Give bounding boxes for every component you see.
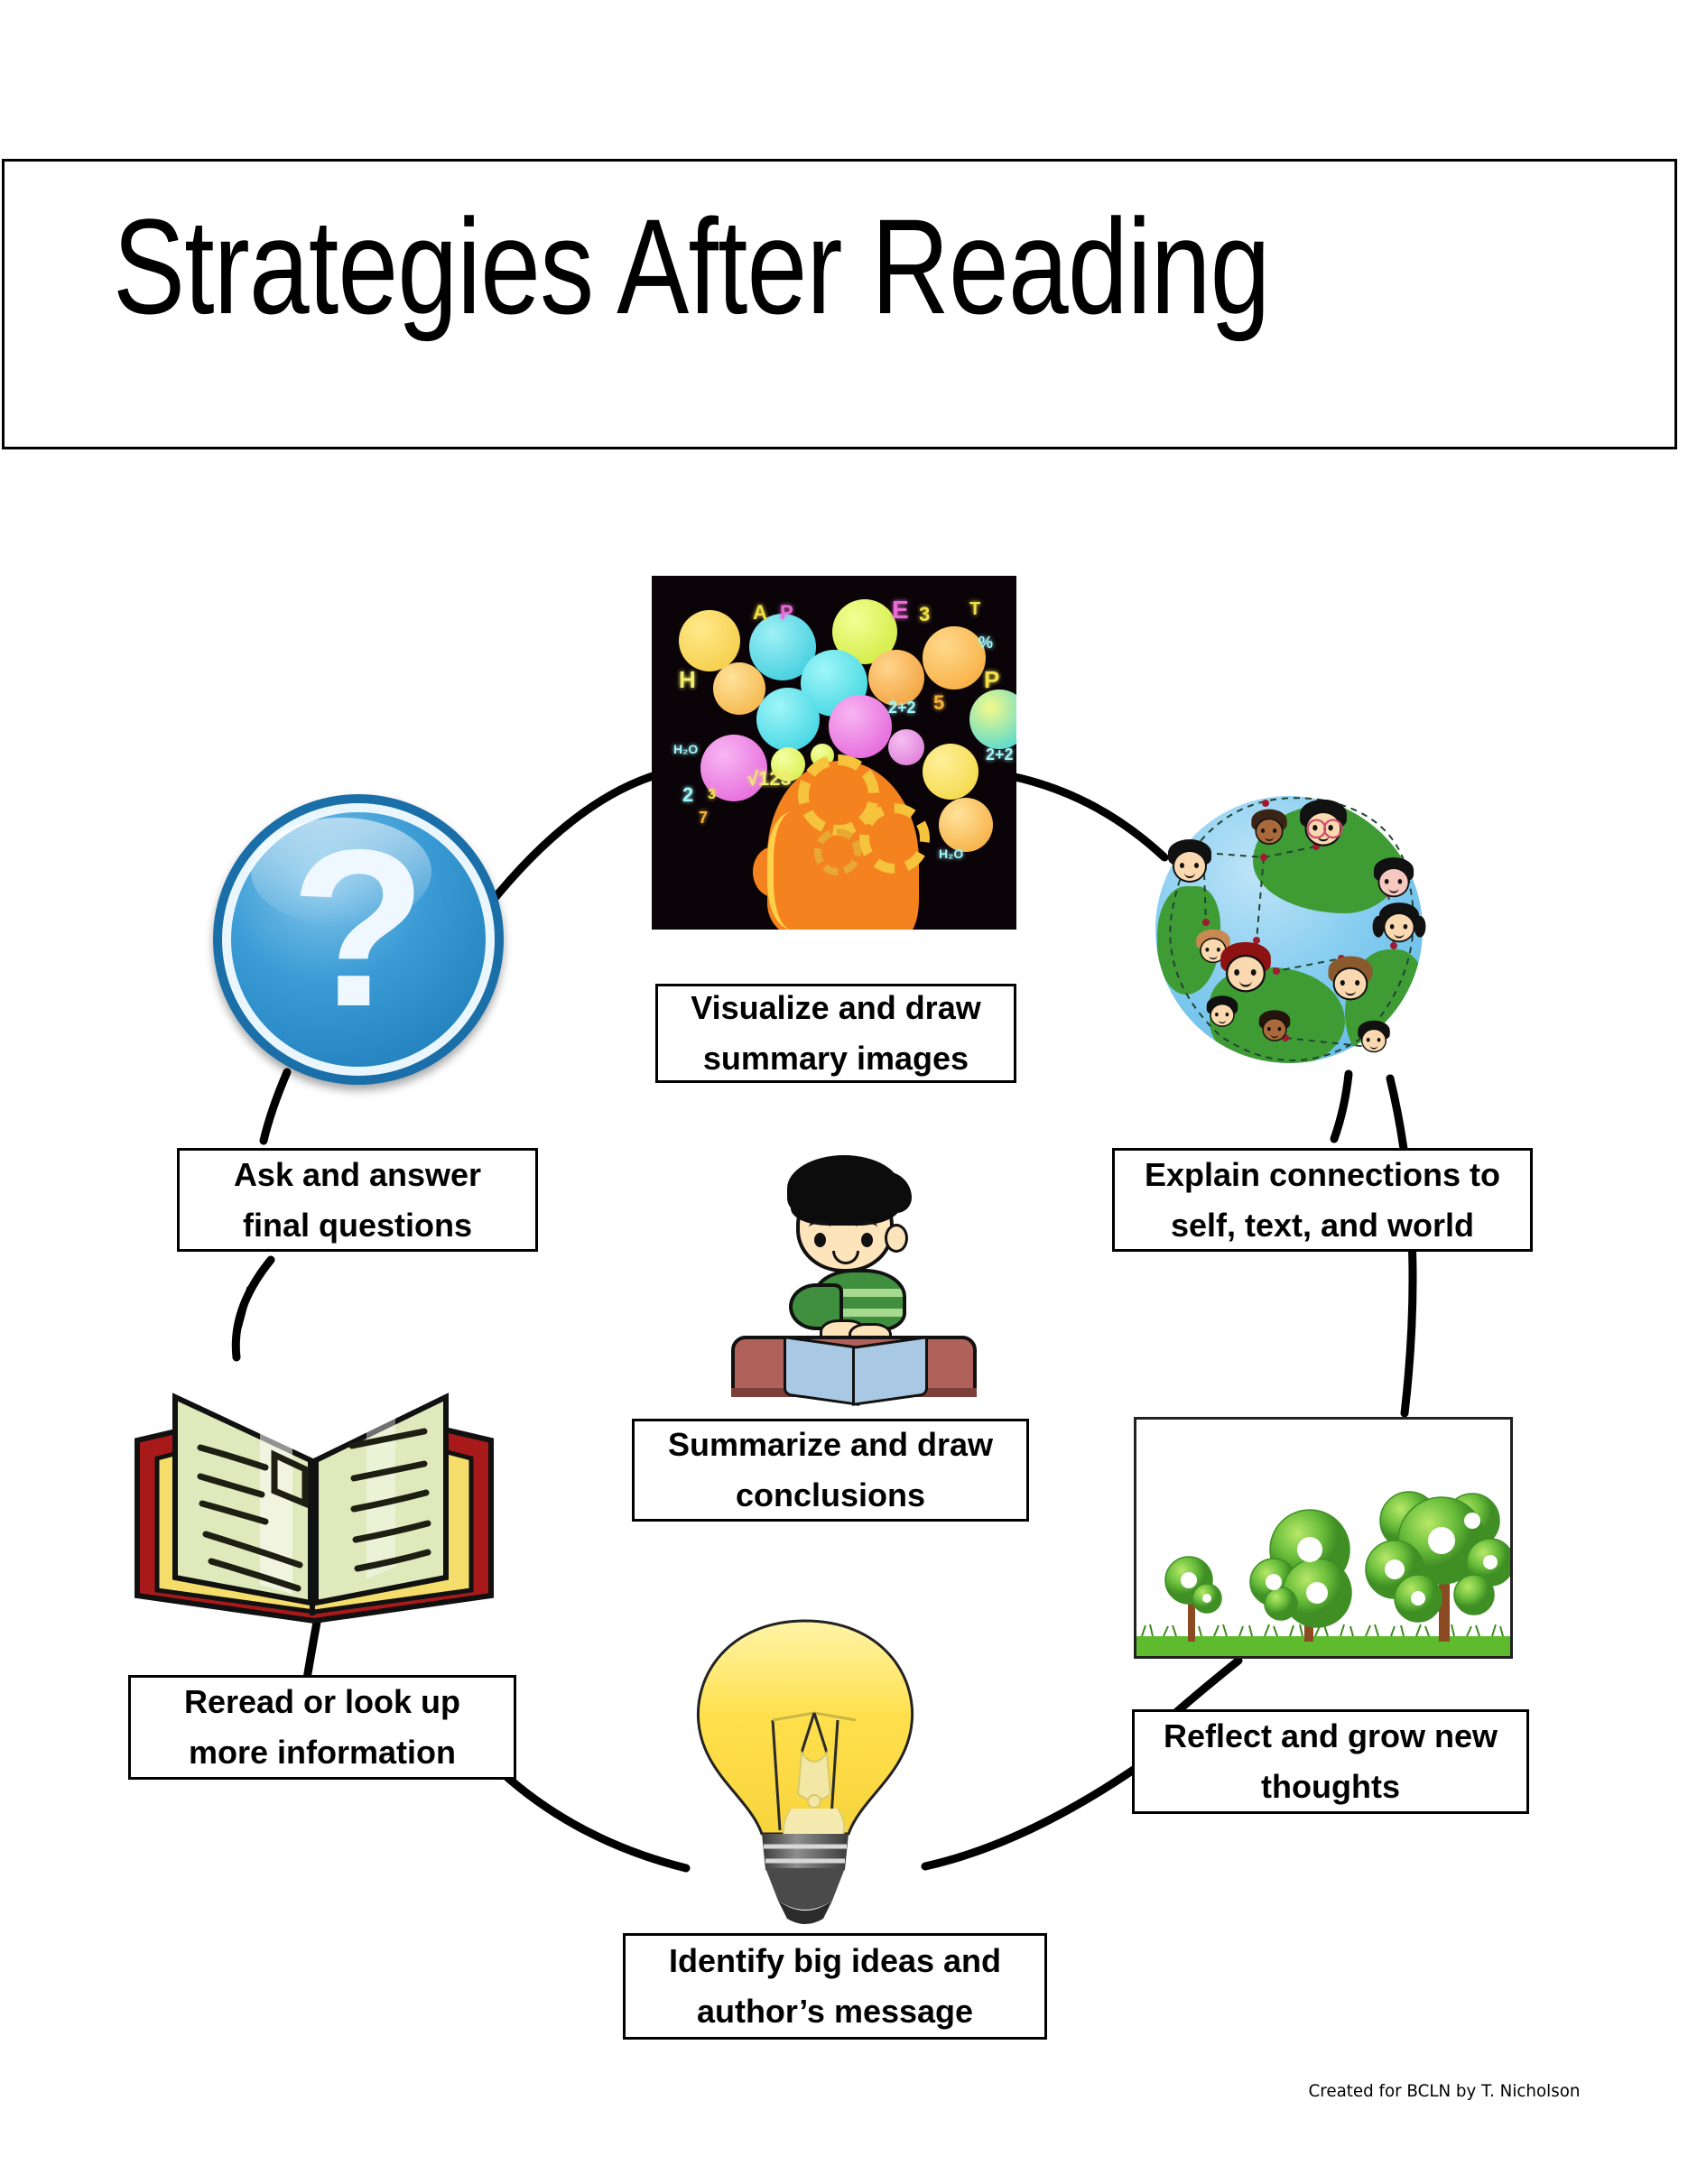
child-avatar bbox=[1372, 857, 1415, 901]
question-mark-glyph: ? bbox=[213, 816, 504, 1040]
caption-summarize: Summarize and draw conclusions bbox=[632, 1419, 1029, 1522]
child-avatar-pigtails bbox=[1377, 902, 1421, 946]
brain-thinking-icon: A P E 3 T % P H 2+2 5 2+2 2 3 √123 7 H₂O… bbox=[652, 576, 1016, 930]
caption-identify-line1: Identify big ideas and bbox=[669, 1936, 1001, 1986]
child-avatar bbox=[1166, 839, 1213, 886]
question-mark-circle-icon: ? bbox=[213, 794, 504, 1085]
light-bulb-svg bbox=[679, 1606, 932, 1949]
strategies-cycle-diagram: A P E 3 T % P H 2+2 5 2+2 2 3 √123 7 H₂O… bbox=[0, 0, 1688, 2184]
caption-visualize-line2: summary images bbox=[691, 1033, 980, 1084]
caption-identify-line2: author’s message bbox=[669, 1986, 1001, 2037]
caption-ask-questions: Ask and answer final questions bbox=[177, 1148, 538, 1252]
child-avatar bbox=[1326, 956, 1374, 1004]
caption-reread-line1: Reread or look up bbox=[184, 1677, 460, 1727]
child-avatar bbox=[1357, 1021, 1391, 1055]
caption-ask-line2: final questions bbox=[234, 1200, 481, 1251]
boy-reading-at-desk-icon bbox=[733, 1155, 975, 1408]
child-avatar bbox=[1250, 810, 1289, 848]
gear-trees-icon bbox=[1134, 1417, 1513, 1659]
caption-reread: Reread or look up more information bbox=[128, 1675, 516, 1780]
light-bulb-icon bbox=[679, 1606, 932, 1949]
child-avatar-redhair bbox=[1219, 942, 1273, 996]
open-book-svg bbox=[125, 1354, 504, 1624]
caption-visualize: Visualize and draw summary images bbox=[655, 984, 1016, 1083]
caption-reflect-line1: Reflect and grow new bbox=[1164, 1711, 1498, 1762]
caption-summarize-line2: conclusions bbox=[668, 1470, 993, 1521]
caption-visualize-line1: Visualize and draw bbox=[691, 983, 980, 1033]
caption-reread-line2: more information bbox=[184, 1727, 460, 1778]
caption-explain-line1: Explain connections to bbox=[1145, 1150, 1500, 1200]
caption-explain-line2: self, text, and world bbox=[1145, 1200, 1500, 1251]
caption-reflect: Reflect and grow new thoughts bbox=[1132, 1709, 1529, 1814]
open-book-icon bbox=[125, 1354, 504, 1624]
caption-explain-connections: Explain connections to self, text, and w… bbox=[1112, 1148, 1533, 1252]
child-avatar bbox=[1205, 995, 1238, 1029]
gear-trees-svg bbox=[1136, 1420, 1510, 1656]
credit-line: Created for BCLN by T. Nicholson bbox=[1308, 2081, 1580, 2101]
caption-ask-line1: Ask and answer bbox=[234, 1150, 481, 1200]
child-avatar bbox=[1257, 1010, 1291, 1043]
caption-identify-big-ideas: Identify big ideas and author’s message bbox=[623, 1933, 1047, 2040]
caption-reflect-line2: thoughts bbox=[1164, 1762, 1498, 1812]
caption-summarize-line1: Summarize and draw bbox=[668, 1420, 993, 1470]
globe-children-network-icon bbox=[1139, 787, 1437, 1076]
child-avatar-glasses bbox=[1298, 800, 1349, 850]
